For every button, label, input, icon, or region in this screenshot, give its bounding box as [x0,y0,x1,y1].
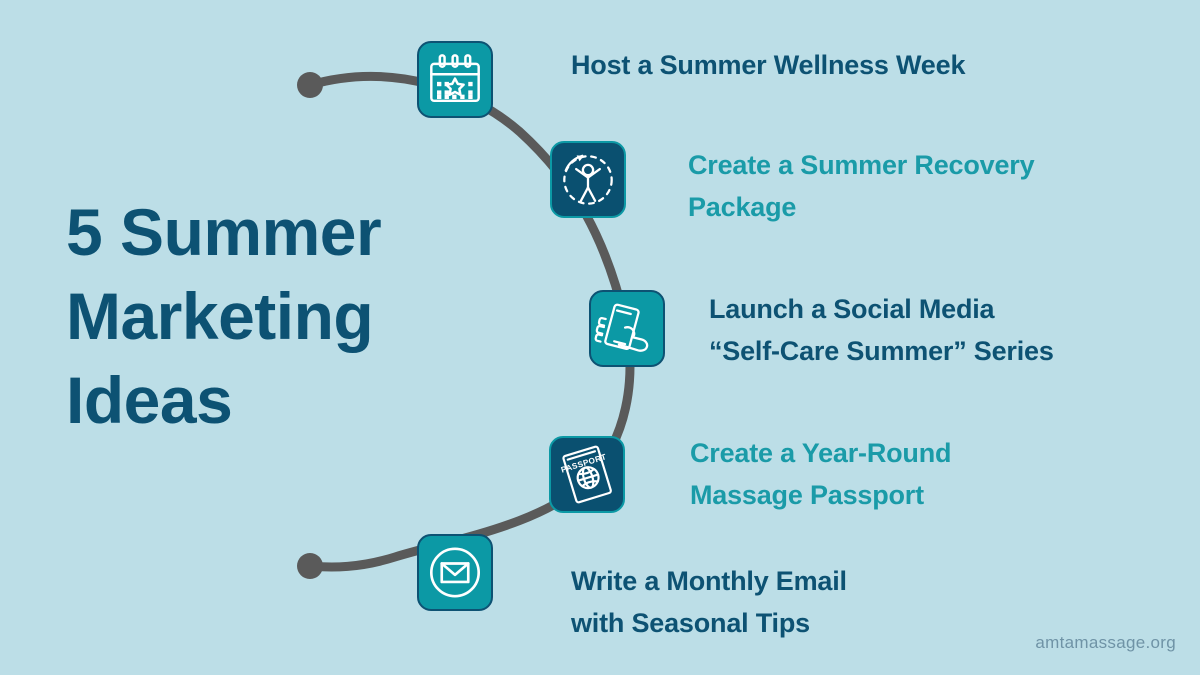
item-2-label: Create a Summer Recovery Package [688,144,1034,228]
item-4-icon-tile[interactable]: PASSPORT [549,436,625,513]
footer-credit: amtamassage.org [1035,633,1176,653]
envelope-circle-icon [419,536,491,609]
infographic-canvas: 5 Summer Marketing Ideas [0,0,1200,675]
item-1-label: Host a Summer Wellness Week [571,44,965,86]
item-2-icon-tile[interactable] [550,141,626,218]
person-recovery-circle-icon [552,143,624,216]
connector-end-dot [297,553,323,579]
item-4-label: Create a Year-Round Massage Passport [690,432,951,516]
calendar-star-icon [419,43,491,116]
item-5-icon-tile[interactable] [417,534,493,611]
hand-holding-phone-icon [591,292,663,365]
connector-start-dot [297,72,323,98]
item-3-icon-tile[interactable] [589,290,665,367]
passport-globe-icon: PASSPORT [551,438,623,511]
item-5-label: Write a Monthly Email with Seasonal Tips [571,560,847,644]
item-1-icon-tile[interactable] [417,41,493,118]
item-3-label: Launch a Social Media “Self-Care Summer”… [709,288,1054,372]
